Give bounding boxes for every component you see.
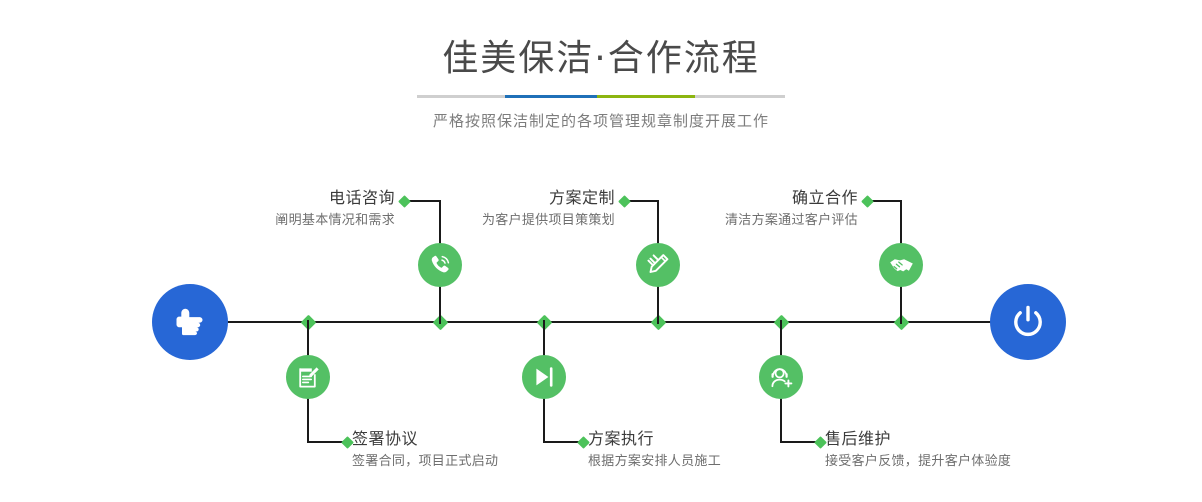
customer-service-add-icon [769,365,794,390]
step-label-4: 方案执行 根据方案安排人员施工 [588,429,721,471]
step-label-2: 签署协议 签署合同，项目正式启动 [352,429,498,471]
connector-horizontal-6 [780,441,818,443]
connector-horizontal-4 [543,441,581,443]
step-title-5: 确立合作 [470,188,858,208]
connector-horizontal-2 [307,441,345,443]
process-flow-infographic: 佳美保洁·合作流程 严格按照保洁制定的各项管理规章制度开展工作 [0,0,1202,502]
step-icon-4[interactable] [522,355,566,399]
play-next-icon [532,365,556,389]
step-desc-4: 根据方案安排人员施工 [588,449,721,471]
step-icon-6[interactable] [759,355,803,399]
step-icon-5[interactable] [879,243,923,287]
connector-tip-5 [861,195,874,208]
handshake-icon [888,252,915,279]
step-desc-2: 签署合同，项目正式启动 [352,449,498,471]
step-label-5: 确立合作 清洁方案通过客户评估 [470,188,858,230]
timeline: 电话咨询 阐明基本情况和需求 签署协议 签署合同，项目正式启动 [0,0,1202,502]
step-label-6: 售后维护 接受客户反馈，提升客户体验度 [825,429,1011,471]
step-icon-3[interactable] [636,243,680,287]
step-title-4: 方案执行 [588,429,721,449]
step-title-2: 签署协议 [352,429,498,449]
power-icon [1007,301,1049,343]
step-icon-1[interactable] [418,243,462,287]
pencil-plan-icon [645,252,671,278]
phone-call-icon [427,252,453,278]
timeline-start-node[interactable] [152,284,228,360]
step-title-6: 售后维护 [825,429,1011,449]
timeline-end-node[interactable] [990,284,1066,360]
step-desc-6: 接受客户反馈，提升客户体验度 [825,449,1011,471]
document-edit-icon [296,365,321,390]
step-icon-2[interactable] [286,355,330,399]
pointing-hand-icon [170,302,210,342]
step-desc-5: 清洁方案通过客户评估 [470,208,858,230]
